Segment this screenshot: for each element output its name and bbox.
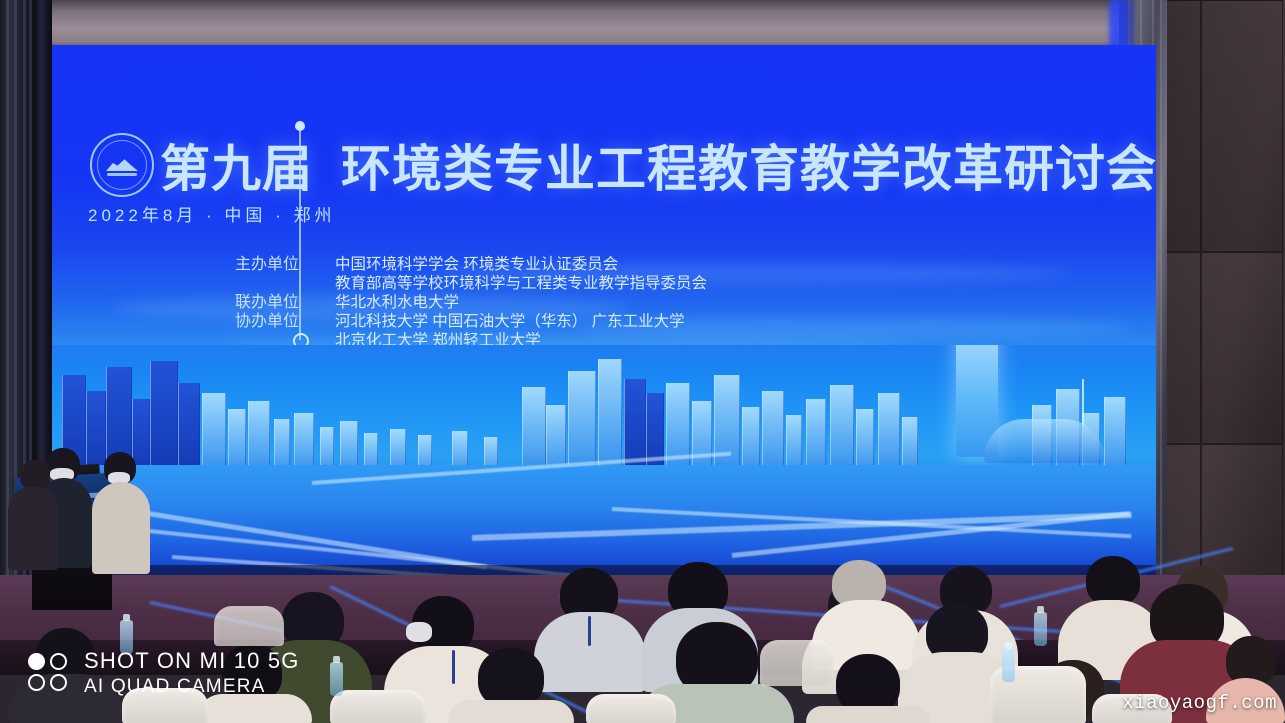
ground-plane: [52, 465, 1156, 575]
wall-panel: [1201, 0, 1283, 252]
led-screen: 第九届环境类专业工程教育教学改革研讨会 2022年8月 · 中国 · 郑州 主办…: [52, 45, 1156, 575]
organizer-value: 河北科技大学 中国石油大学（华东） 广东工业大学: [317, 312, 685, 331]
water-bottle: [1002, 648, 1015, 682]
site-watermark: xiaoyaogf.com: [1122, 692, 1277, 714]
chair: [760, 640, 834, 686]
organizer-row: 协办单位河北科技大学 中国石油大学（华东） 广东工业大学: [52, 312, 1156, 331]
water-bottle: [1034, 612, 1047, 646]
organizer-value: 中国环境科学学会 环境类专业认证委员会: [317, 255, 618, 274]
screen-title: 第九届环境类专业工程教育教学改革研讨会: [160, 129, 1156, 201]
chair: [214, 606, 284, 646]
stadium-structure: [984, 419, 1104, 463]
organizer-label: 联办单位: [52, 293, 317, 312]
organizer-row: 联办单位华北水利水电大学: [52, 293, 1156, 312]
divider-dot-top-icon: [295, 121, 305, 131]
organizer-row: 主办单位中国环境科学学会 环境类专业认证委员会: [52, 255, 1156, 274]
emblem-mountain-icon: [106, 157, 138, 171]
chair: [586, 694, 676, 723]
title-main-text: 环境类专业工程教育教学改革研讨会: [341, 141, 1156, 197]
title-sequence: 第九届: [160, 141, 313, 197]
organizer-list: 主办单位中国环境科学学会 环境类专业认证委员会教育部高等学校环境科学与工程类专业…: [52, 255, 1156, 350]
chair: [330, 690, 426, 723]
city-skyline-art: [52, 345, 1156, 575]
camera-watermark-badge: SHOT ON MI 10 5G AI QUAD CAMERA: [28, 648, 300, 700]
emblem-wave-icon: [107, 173, 137, 176]
wall-panel: [1201, 252, 1283, 444]
camera-mode-line: AI QUAD CAMERA: [84, 674, 300, 700]
quad-camera-icon: [28, 653, 70, 695]
organizer-label: 协办单位: [52, 312, 317, 331]
water-bottle: [330, 662, 343, 696]
shot-on-line: SHOT ON MI 10 5G: [84, 648, 300, 674]
organizer-value: 教育部高等学校环境科学与工程类专业教学指导委员会: [317, 274, 707, 293]
organizer-value: 华北水利水电大学: [317, 293, 459, 312]
organizer-label: 主办单位: [52, 255, 317, 274]
society-emblem-icon: [90, 133, 154, 197]
conference-photo: 第九届环境类专业工程教育教学改革研讨会 2022年8月 · 中国 · 郑州 主办…: [0, 0, 1285, 723]
bridge-mast: [1082, 379, 1084, 425]
organizer-row: 教育部高等学校环境科学与工程类专业教学指导委员会: [52, 274, 1156, 293]
